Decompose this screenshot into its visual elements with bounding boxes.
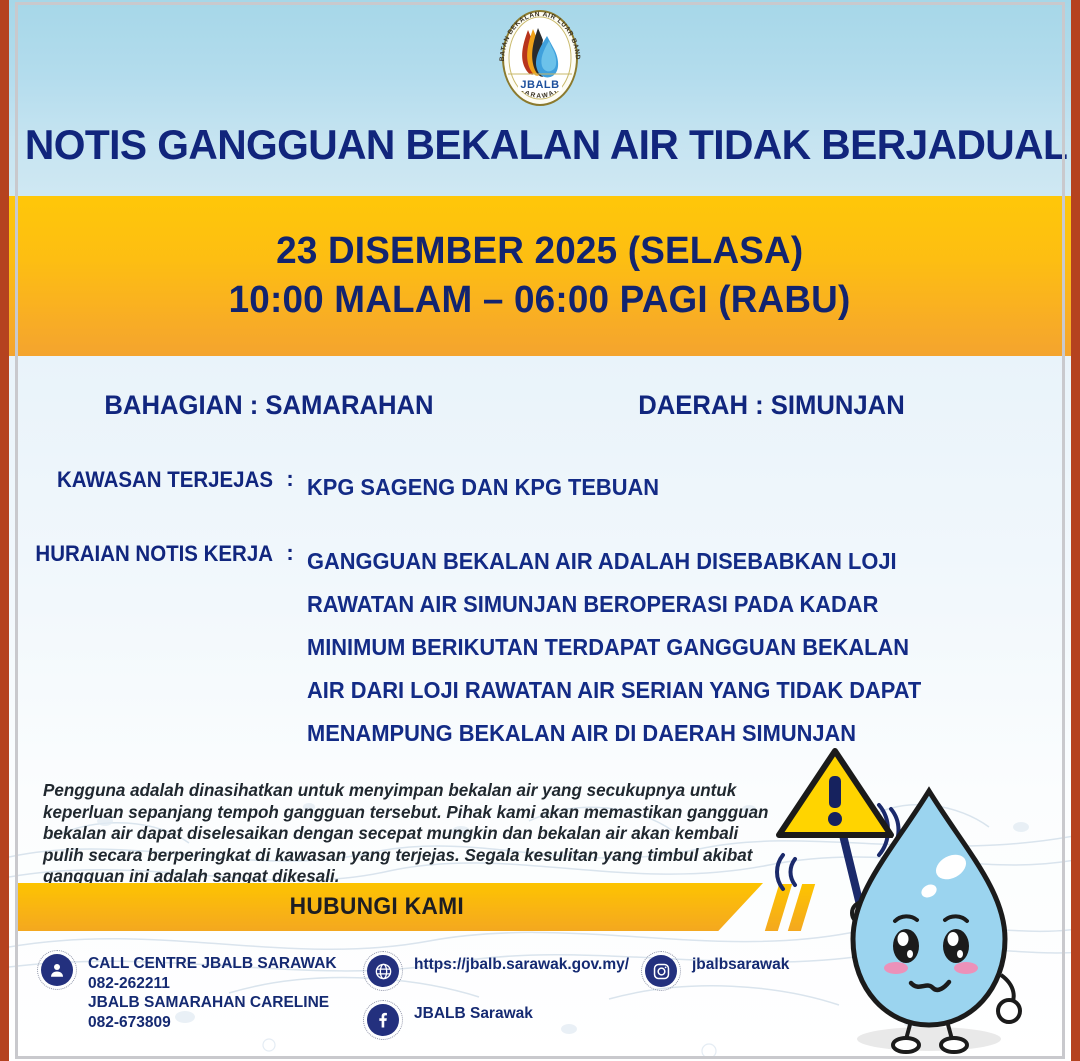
website-url[interactable]: https://jbalb.sarawak.gov.my/ (414, 951, 629, 975)
huraian-value: GANGGUAN BEKALAN AIR ADALAH DISEBABKAN L… (307, 540, 921, 755)
advisory-paragraph: Pengguna adalah dinasihatkan untuk menyi… (43, 780, 770, 888)
person-icon (37, 950, 77, 990)
date-banner: 23 DISEMBER 2025 (SELASA) 10:00 MALAM – … (9, 196, 1071, 356)
huraian-colon: : (273, 540, 307, 566)
hubungi-kami-title: HUBUNGI KAMI (289, 893, 463, 921)
kawasan-value: KPG SAGENG DAN KPG TEBUAN (307, 466, 659, 509)
globe-icon (363, 951, 403, 991)
poster-header: JABATAN BEKALAN AIR LUAR BANDAR SARAWAK … (9, 0, 1071, 196)
notice-time-range: 10:00 MALAM – 06:00 PAGI (RABU) (229, 279, 851, 322)
call-centre-text: CALL CENTRE JBALB SARAWAK 082-262211 JBA… (88, 950, 337, 1032)
poster-body: BAHAGIAN : SAMARAHAN DAERAH : SIMUNJAN K… (9, 356, 1071, 1061)
instagram-handle[interactable]: jbalbsarawak (692, 951, 789, 975)
svg-text:JBALB: JBALB (520, 79, 559, 91)
field-huraian-notis-kerja: HURAIAN NOTIS KERJA : GANGGUAN BEKALAN A… (9, 540, 954, 755)
contact-instagram[interactable]: jbalbsarawak (641, 951, 789, 991)
careline-number: 082-673809 (88, 1013, 337, 1033)
instagram-icon (641, 951, 681, 991)
huraian-line: MINIMUM BERIKUTAN TERDAPAT GANGGUAN BEKA… (307, 626, 921, 669)
facebook-icon (363, 1000, 403, 1040)
huraian-label: HURAIAN NOTIS KERJA (24, 540, 273, 567)
huraian-line: MENAMPUNG BEKALAN AIR DI DAERAH SIMUNJAN (307, 712, 921, 755)
hubungi-kami-bar: HUBUNGI KAMI (18, 883, 763, 931)
facebook-handle[interactable]: JBALB Sarawak (414, 1000, 533, 1024)
daerah-label: DAERAH : SIMUNJAN (543, 390, 1058, 421)
region-row: BAHAGIAN : SAMARAHAN DAERAH : SIMUNJAN (9, 390, 1071, 421)
huraian-line: RAWATAN AIR SIMUNJAN BEROPERASI PADA KAD… (307, 583, 921, 626)
contact-call-centre[interactable]: CALL CENTRE JBALB SARAWAK 082-262211 JBA… (37, 950, 337, 1032)
contact-facebook[interactable]: JBALB Sarawak (363, 1000, 533, 1040)
bahagian-label: BAHAGIAN : SAMARAHAN (22, 390, 516, 421)
page-title: NOTIS GANGGUAN BEKALAN AIR TIDAK BERJADU… (25, 121, 1055, 169)
kawasan-line: KPG SAGENG DAN KPG TEBUAN (307, 466, 659, 509)
kawasan-label: KAWASAN TERJEJAS (24, 466, 273, 493)
field-kawasan-terjejas: KAWASAN TERJEJAS : KPG SAGENG DAN KPG TE… (9, 466, 678, 509)
careline-name: JBALB SAMARAHAN CARELINE (88, 993, 337, 1013)
bar-slash-accent (765, 884, 792, 931)
huraian-line: AIR DARI LOJI RAWATAN AIR SERIAN YANG TI… (307, 669, 921, 712)
contact-website[interactable]: https://jbalb.sarawak.gov.my/ (363, 951, 629, 991)
call-centre-number: 082-262211 (88, 974, 337, 994)
notice-poster: JABATAN BEKALAN AIR LUAR BANDAR SARAWAK … (0, 0, 1080, 1061)
bar-slash-accent (788, 884, 815, 931)
call-centre-name: CALL CENTRE JBALB SARAWAK (88, 954, 337, 974)
contact-footer: CALL CENTRE JBALB SARAWAK 082-262211 JBA… (9, 944, 1071, 1061)
huraian-line: GANGGUAN BEKALAN AIR ADALAH DISEBABKAN L… (307, 540, 921, 583)
kawasan-colon: : (273, 466, 307, 492)
notice-date: 23 DISEMBER 2025 (SELASA) (276, 230, 803, 273)
jbalb-sarawak-logo: JABATAN BEKALAN AIR LUAR BANDAR SARAWAK … (492, 6, 588, 110)
warning-triangle-sign (779, 751, 893, 838)
